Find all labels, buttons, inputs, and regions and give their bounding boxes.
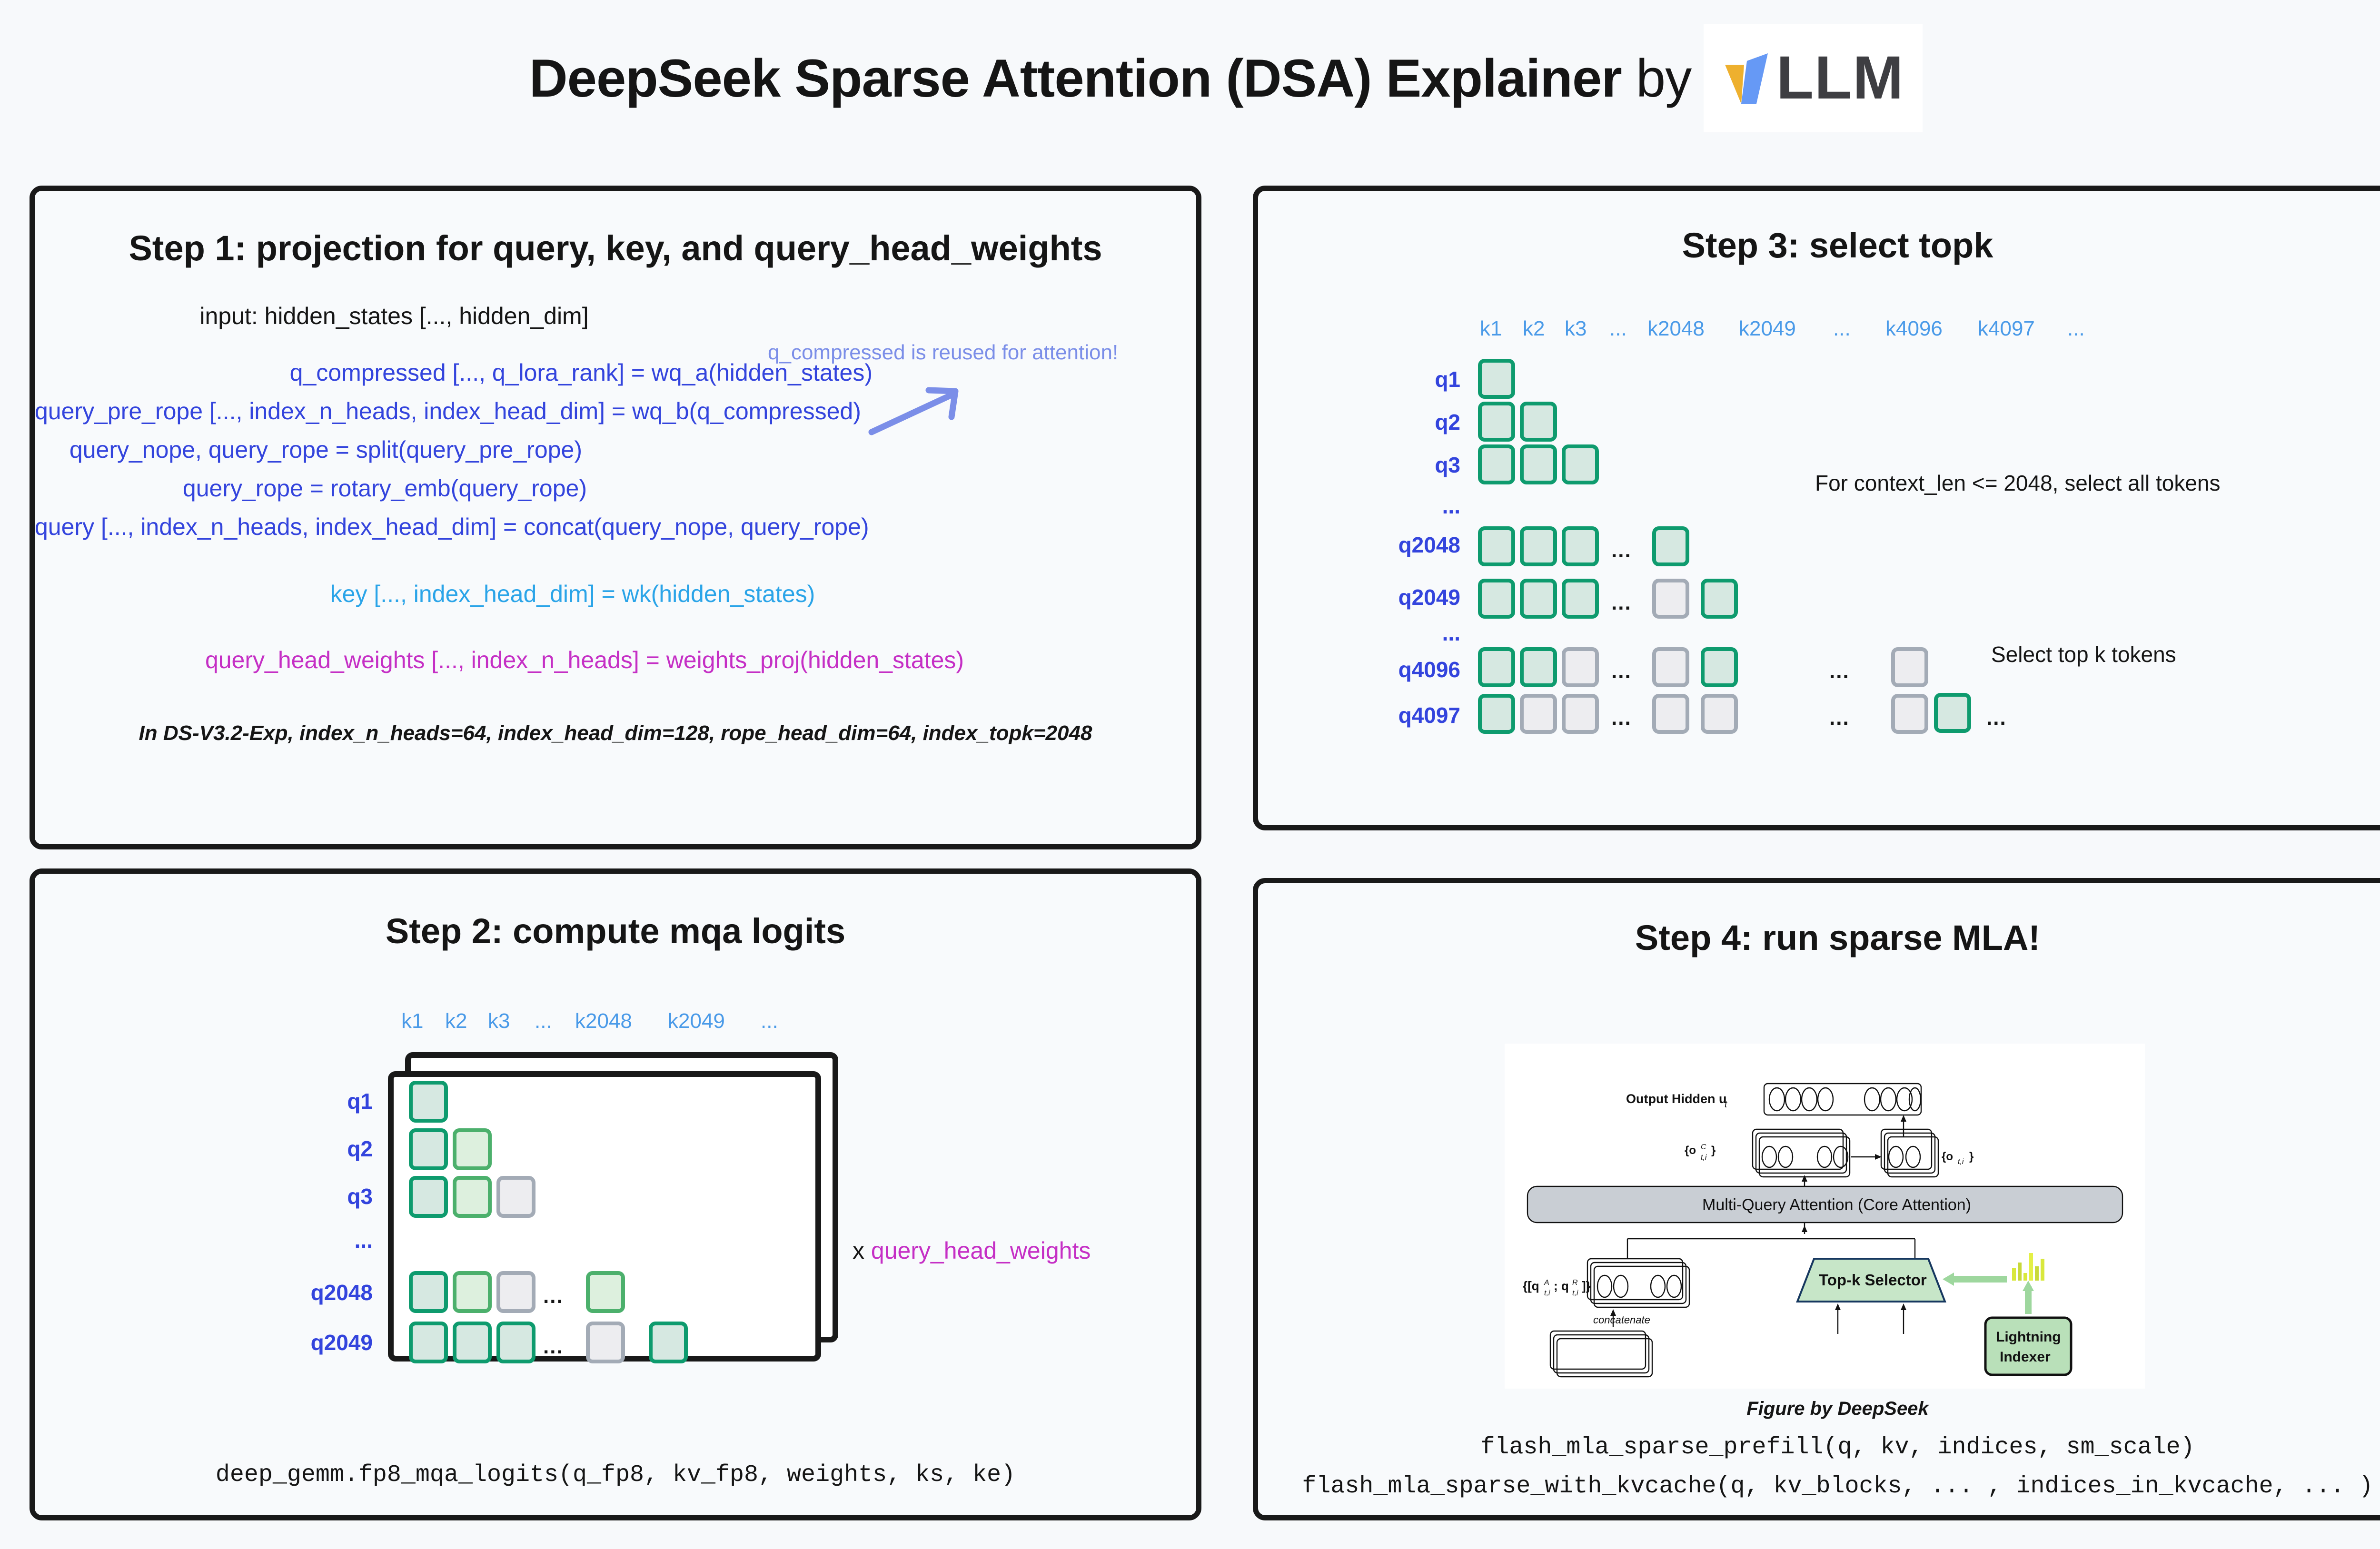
svg-text:t,i: t,i <box>1701 1154 1707 1162</box>
step-3-grid: k1 k2 k3 ... k2048 k2049 ... k4096 k4097… <box>1258 266 2380 789</box>
col-header-k2049: k2049 <box>1739 317 1796 341</box>
svg-text:]}: ]} <box>1582 1279 1591 1293</box>
col-header-k1: k1 <box>401 1009 423 1033</box>
step-4-title: Step 4: run sparse MLA! <box>1258 918 2380 958</box>
col-header-k2: k2 <box>1523 317 1545 341</box>
grid-cell <box>409 1128 448 1170</box>
step-4-body: Output Hidden u t {o C t,i } {o t,i } Mu… <box>1258 958 2380 1462</box>
row-label-ellipsis-1: ... <box>1353 493 1460 519</box>
card-step-2: Step 2: compute mqa logits k1 k2 k3 ... … <box>30 868 1201 1520</box>
grid-cell <box>1562 526 1599 566</box>
grid-cell <box>1478 579 1515 619</box>
grid-cell <box>1891 647 1928 687</box>
row-label-q3: q3 <box>282 1184 373 1209</box>
svg-text:}: } <box>1969 1150 1973 1163</box>
svg-text:t,i: t,i <box>1544 1289 1550 1297</box>
page-header: DeepSeek Sparse Attention (DSA) Explaine… <box>0 24 2380 132</box>
step-2-title: Step 2: compute mqa logits <box>35 911 1196 951</box>
col-header-ellipsis-1: ... <box>1609 317 1627 341</box>
grid-cell <box>453 1128 492 1170</box>
grid-cell <box>1652 526 1689 566</box>
grid-cell <box>1478 444 1515 484</box>
col-header-k2: k2 <box>445 1009 467 1033</box>
poster-root: DeepSeek Sparse Attention (DSA) Explaine… <box>0 0 2380 1549</box>
grid-cell <box>1520 579 1557 619</box>
page-title-by: by <box>1622 49 1691 108</box>
svg-text:t,i: t,i <box>1572 1289 1578 1297</box>
step-1-code-line: query_pre_rope [..., index_n_heads, inde… <box>35 392 1196 431</box>
row-label-ellipsis-2: ... <box>1353 620 1460 646</box>
grid-ellipsis: ... <box>1986 706 2007 730</box>
grid-cell <box>1652 579 1689 619</box>
col-header-ellipsis-2: ... <box>1833 317 1851 341</box>
row-label-q2048: q2048 <box>244 1280 373 1305</box>
row-label-q2049: q2049 <box>244 1330 373 1355</box>
grid-cell <box>1652 694 1689 734</box>
query-head-weights-label: query_head_weights <box>871 1237 1091 1264</box>
grid-cell <box>1478 402 1515 442</box>
row-label-q3: q3 <box>1353 452 1460 478</box>
step-1-footnote: In DS-V3.2-Exp, index_n_heads=64, index_… <box>35 721 1196 745</box>
step-1-note: q_compressed is reused for attention! <box>768 341 1118 365</box>
row-label-q2: q2 <box>1353 409 1460 435</box>
grid-ellipsis: ... <box>1611 591 1632 615</box>
page-title: DeepSeek Sparse Attention (DSA) Explaine… <box>529 48 1691 109</box>
grid-cell <box>1562 647 1599 687</box>
row-label-q4096: q4096 <box>1320 657 1460 682</box>
col-header-ellipsis-3: ... <box>2067 317 2085 341</box>
col-header-k3: k3 <box>488 1009 510 1033</box>
deepseek-figure-svg: Output Hidden u t {o C t,i } {o t,i } Mu… <box>1505 1044 2145 1389</box>
grid-cell <box>649 1322 688 1363</box>
svg-text:t,i: t,i <box>1958 1158 1964 1166</box>
grid-ellipsis: ... <box>1611 706 1632 730</box>
svg-text:; q: ; q <box>1554 1279 1569 1293</box>
svg-text:A: A <box>1544 1279 1549 1287</box>
step-2-grid: k1 k2 k3 ... k2048 k2049 ... q1 q2 q3 ..… <box>35 951 1196 1432</box>
card-step-3: Step 3: select topk k1 k2 k3 ... k2048 k… <box>1253 186 2380 830</box>
grid-cell <box>1478 359 1515 399</box>
grid-cell <box>1701 647 1738 687</box>
grid-cell <box>496 1176 535 1218</box>
grid-cell <box>453 1176 492 1218</box>
svg-text:{[q: {[q <box>1523 1279 1539 1293</box>
col-header-k2048: k2048 <box>575 1009 632 1033</box>
svg-text:R: R <box>1572 1279 1578 1287</box>
step-1-weights-line: query_head_weights [..., index_n_heads] … <box>35 641 1134 680</box>
row-label-q1: q1 <box>1353 366 1460 392</box>
grid-cell <box>453 1271 492 1313</box>
query-head-weights-multiplier: x query_head_weights <box>853 1237 1091 1264</box>
figure-caption: Figure by DeepSeek <box>1258 1398 2380 1420</box>
step-1-title: Step 1: projection for query, key, and q… <box>35 228 1196 268</box>
step-4-formula-2: flash_mla_sparse_with_kvcache(q, kv_bloc… <box>1258 1473 2380 1500</box>
step-3-note-topk: Select top k tokens <box>1991 641 2176 667</box>
grid-ellipsis: ... <box>1611 660 1632 683</box>
grid-cell <box>1520 444 1557 484</box>
arrow-icon <box>868 382 968 439</box>
row-label-q2048: q2048 <box>1320 532 1460 558</box>
svg-text:Indexer: Indexer <box>2000 1349 2051 1365</box>
grid-cell <box>1520 694 1557 734</box>
grid-cell <box>586 1271 625 1313</box>
step-1-body: input: hidden_states [..., hidden_dim] q… <box>35 297 1196 745</box>
col-header-k4096: k4096 <box>1885 317 1943 341</box>
col-header-ellipsis-1: ... <box>535 1009 552 1033</box>
col-header-k1: k1 <box>1480 317 1502 341</box>
step-3-title: Step 3: select topk <box>1258 225 2380 266</box>
grid-ellipsis: ... <box>1829 660 1850 683</box>
step-1-key-line: key [..., index_head_dim] = wk(hidden_st… <box>35 575 1111 613</box>
grid-cell <box>1478 526 1515 566</box>
row-label-q2: q2 <box>282 1136 373 1162</box>
grid-cell <box>1562 444 1599 484</box>
grid-cell <box>409 1176 448 1218</box>
grid-cell <box>586 1322 625 1363</box>
row-label-q2049: q2049 <box>1320 584 1460 610</box>
grid-cell <box>1520 402 1557 442</box>
row-label-ellipsis: ... <box>282 1227 373 1253</box>
row-label-q1: q1 <box>282 1088 373 1114</box>
grid-cell <box>453 1322 492 1363</box>
grid-cell <box>1478 647 1515 687</box>
vllm-logo-text: LLM <box>1776 48 1904 109</box>
step-4-formula-1: flash_mla_sparse_prefill(q, kv, indices,… <box>1258 1434 2380 1461</box>
grid-cell <box>1520 647 1557 687</box>
step-3-note-all-tokens: For context_len <= 2048, select all toke… <box>1815 470 2221 496</box>
deepseek-architecture-figure: Output Hidden u t {o C t,i } {o t,i } Mu… <box>1505 1044 2145 1389</box>
row-label-q4097: q4097 <box>1320 702 1460 728</box>
svg-text:C: C <box>1701 1143 1706 1151</box>
col-header-k2048: k2048 <box>1647 317 1705 341</box>
page-title-main: DeepSeek Sparse Attention (DSA) Explaine… <box>529 49 1622 108</box>
svg-text:Multi-Query Attention (Core At: Multi-Query Attention (Core Attention) <box>1702 1196 1971 1214</box>
grid-cell <box>496 1271 535 1313</box>
step-2-formula: deep_gemm.fp8_mqa_logits(q_fp8, kv_fp8, … <box>35 1461 1196 1489</box>
grid-ellipsis: ... <box>1829 706 1850 730</box>
grid-ellipsis: ... <box>543 1335 564 1359</box>
svg-text:Output Hidden u: Output Hidden u <box>1626 1092 1726 1106</box>
grid-ellipsis: ... <box>1611 539 1632 562</box>
svg-text:{o: {o <box>1685 1144 1696 1157</box>
grid-cell <box>496 1322 535 1363</box>
card-step-1: Step 1: projection for query, key, and q… <box>30 186 1201 849</box>
grid-cell <box>409 1081 448 1123</box>
vllm-mark-icon <box>1722 50 1774 106</box>
vllm-logo: LLM <box>1704 24 1923 132</box>
svg-text:Top-k Selector: Top-k Selector <box>1819 1271 1927 1289</box>
svg-text:}: } <box>1711 1144 1716 1157</box>
step-1-input-line: input: hidden_states [..., hidden_dim] <box>35 297 754 335</box>
grid-cell <box>1562 694 1599 734</box>
col-header-ellipsis-2: ... <box>761 1009 778 1033</box>
grid-cell <box>409 1322 448 1363</box>
logits-pane-front <box>388 1071 821 1362</box>
grid-cell <box>1562 579 1599 619</box>
card-step-4: Step 4: run sparse MLA! <box>1253 878 2380 1520</box>
step-1-code-line: query_nope, query_rope = split(query_pre… <box>35 431 1196 469</box>
grid-cell <box>1520 526 1557 566</box>
svg-text:concatenate: concatenate <box>1593 1314 1650 1326</box>
grid-cell <box>1478 694 1515 734</box>
step-1-code-line: query_rope = rotary_emb(query_rope) <box>35 469 1196 508</box>
col-header-k3: k3 <box>1565 317 1587 341</box>
grid-ellipsis: ... <box>543 1284 564 1308</box>
multiply-symbol: x <box>853 1237 864 1264</box>
grid-cell <box>1701 579 1738 619</box>
svg-text:Lightning: Lightning <box>1996 1329 2061 1345</box>
col-header-k2049: k2049 <box>668 1009 725 1033</box>
svg-text:t: t <box>1725 1100 1727 1110</box>
grid-cell <box>1934 693 1971 733</box>
col-header-k4097: k4097 <box>1978 317 2035 341</box>
step-1-code-line: query [..., index_n_heads, index_head_di… <box>35 508 1196 546</box>
grid-cell <box>1652 647 1689 687</box>
grid-cell <box>409 1271 448 1313</box>
grid-cell <box>1891 694 1928 734</box>
grid-cell <box>1701 694 1738 734</box>
svg-text:{o: {o <box>1942 1150 1953 1163</box>
